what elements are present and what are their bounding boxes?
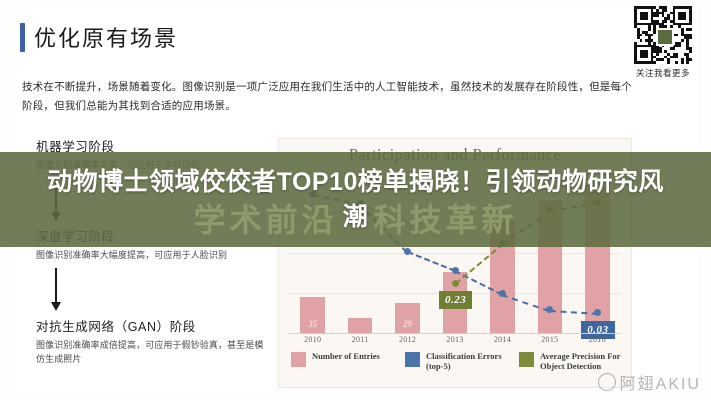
- chart-x-axis: 2010201120122013201420152016: [289, 335, 621, 349]
- watermark-text: 阿翅AKIU: [620, 370, 701, 394]
- chart-legend-item: Number of Entries: [291, 351, 403, 371]
- chart-bar-label: 29: [395, 319, 420, 329]
- flow-stage-title: 对抗生成网络（GAN）阶段: [36, 318, 268, 336]
- chart-bar: [348, 318, 373, 333]
- watermark: 阿翅AKIU: [598, 370, 701, 394]
- chart-bar-label: 35: [300, 319, 325, 329]
- slide-canvas: 优化原有场景 技术在不断提升，场景随着变化。图像识别是一项广泛应用在我们生活中的…: [0, 0, 711, 400]
- chart-data-point: [452, 280, 459, 287]
- chart-data-point: [404, 248, 411, 255]
- overlay-title: 动物博士领域佼佼者TOP10榜单揭晓！引领动物研究风潮: [46, 165, 665, 235]
- overlay-title-wrap: 动物博士领域佼佼者TOP10榜单揭晓！引领动物研究风潮: [0, 152, 711, 247]
- body-paragraph: 技术在不断提升，场景随着变化。图像识别是一项广泛应用在我们生活中的人工智能技术，…: [22, 78, 642, 116]
- chart-legend-label: Average Precision For Object Detection: [540, 351, 631, 371]
- chart-legend-label: Number of Entries: [312, 351, 380, 361]
- flow-stage-3: 对抗生成网络（GAN）阶段 图像识别准确率成倍提高，可应用于假钞验真，甚至是模仿…: [36, 318, 268, 366]
- chart-bar: 35: [300, 297, 325, 333]
- chart-x-tick: 2013: [431, 335, 478, 344]
- chart-x-tick: 2011: [336, 335, 383, 344]
- chart-x-tick: 2010: [289, 335, 336, 344]
- chart-legend-item: Classification Errors (top-5): [405, 351, 517, 371]
- chart-legend-label: Classification Errors (top-5): [426, 351, 517, 371]
- title-accent-bar: [20, 23, 25, 52]
- chart-data-point: [452, 267, 459, 274]
- chart-x-tick: 2016: [574, 335, 621, 344]
- chart-gridline: [289, 253, 621, 254]
- watermark-circle-icon: [598, 373, 616, 391]
- flow-arrow-2: [50, 268, 62, 312]
- flow-stage-desc: 图像识别准确率大幅度提高，可应用于人脸识别: [36, 248, 268, 262]
- qr-caption: 关注我看更多: [623, 67, 703, 79]
- chart-x-axis-line: [289, 333, 621, 334]
- arrow-shaft: [55, 268, 57, 304]
- screenshot-root: 优化原有场景 技术在不断提升，场景随着变化。图像识别是一项广泛应用在我们生活中的…: [0, 0, 711, 400]
- page-title: 优化原有场景: [20, 21, 178, 53]
- chart-line-segment: [407, 251, 455, 272]
- chart-x-tick: 2015: [526, 335, 573, 344]
- arrow-head-icon: [51, 302, 61, 311]
- chart-x-tick: 2012: [384, 335, 431, 344]
- qr-block[interactable]: 关注我看更多: [623, 6, 703, 79]
- chart-legend-item: Average Precision For Object Detection: [519, 351, 631, 371]
- chart-legend-swatch: [519, 352, 534, 367]
- chart-legend-swatch: [291, 352, 306, 367]
- flow-stage-desc: 图像识别准确率成倍提高，可应用于假钞验真，甚至是模仿生成照片: [36, 338, 268, 366]
- title-text: 优化原有场景: [34, 21, 178, 53]
- chart-legend-swatch: [405, 352, 420, 367]
- qr-code-icon[interactable]: [634, 6, 692, 64]
- chart-value-label: 0.23: [439, 291, 472, 309]
- chart-bar: 29: [395, 303, 420, 333]
- chart-x-tick: 2014: [479, 335, 526, 344]
- chart-legend: Number of EntriesClassification Errors (…: [291, 351, 631, 371]
